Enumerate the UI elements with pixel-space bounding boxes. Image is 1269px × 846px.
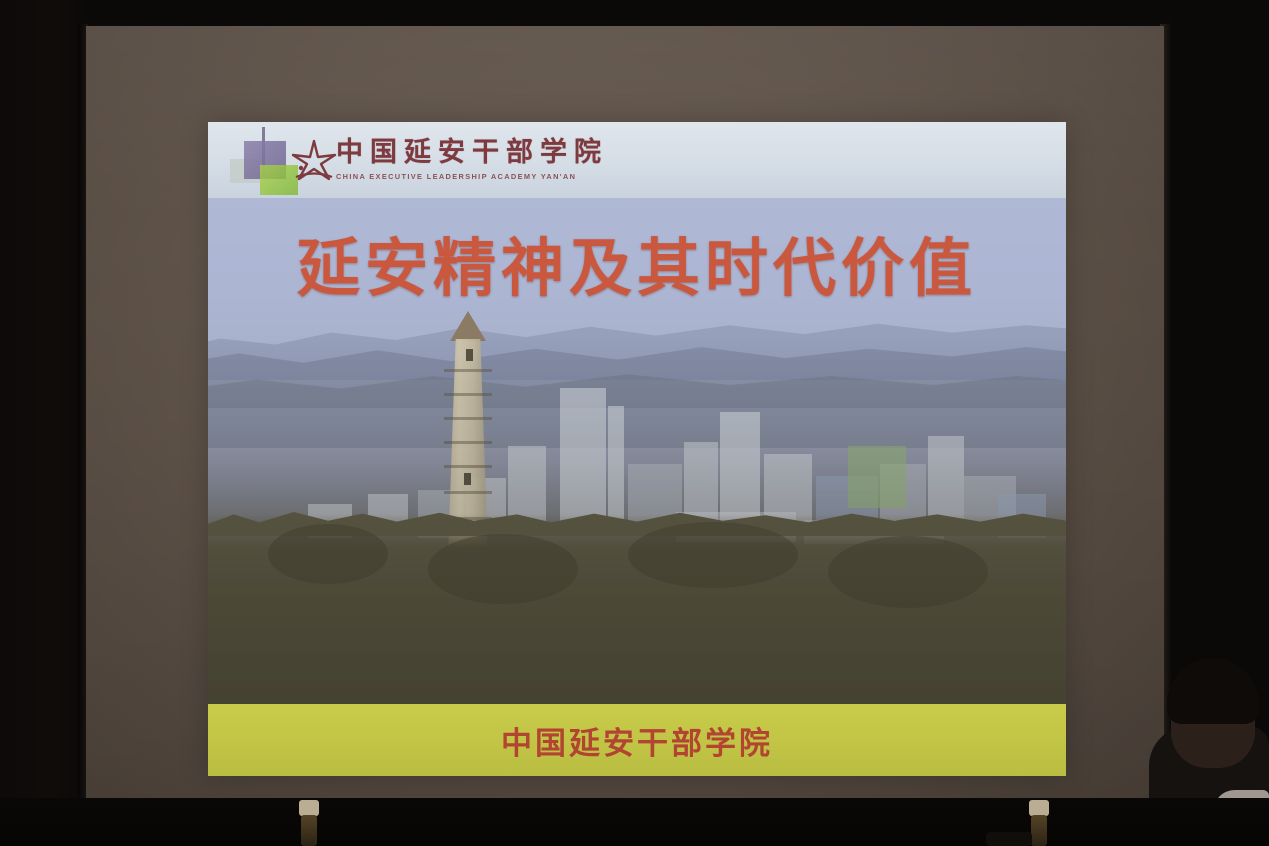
logo-star-pagoda-emblem-icon	[288, 137, 340, 187]
bottle-body	[301, 815, 317, 846]
academy-name-chinese: 中国延安干部学院	[336, 139, 608, 168]
water-bottle-left	[296, 800, 322, 846]
yanan-pagoda	[436, 311, 500, 611]
slide-footer-banner: 中国延安干部学院	[208, 704, 1066, 776]
bottle-cap-icon	[299, 800, 319, 816]
mountain-ridge-mid	[208, 330, 1066, 408]
bottle-body	[1031, 815, 1047, 846]
slide-header-band: 中国延安干部学院 CHINA EXECUTIVE LEADERSHIP ACAD…	[208, 122, 1066, 198]
presentation-slide: 中国延安干部学院 CHINA EXECUTIVE LEADERSHIP ACAD…	[208, 122, 1066, 776]
cityscape-buildings	[208, 376, 1066, 556]
table-object	[986, 832, 1032, 846]
bottle-cap-icon	[1029, 800, 1049, 816]
pagoda-roof-icon	[450, 311, 486, 341]
foreground-tree-canopy	[208, 514, 1066, 704]
academy-logo-text: 中国延安干部学院 CHINA EXECUTIVE LEADERSHIP ACAD…	[336, 139, 608, 181]
screenshot-stage: 中国延安干部学院 CHINA EXECUTIVE LEADERSHIP ACAD…	[0, 0, 1269, 846]
slide-title: 延安精神及其时代价值	[208, 218, 1066, 309]
slide-footer-text: 中国延安干部学院	[501, 718, 773, 763]
mountain-ridge-near	[208, 358, 1066, 448]
table-edge	[0, 798, 1269, 846]
person-hair	[1167, 658, 1259, 724]
mountain-ridge-far	[208, 306, 1066, 380]
pagoda-body	[446, 339, 490, 611]
academy-logo-mark	[230, 125, 318, 195]
academy-name-english: CHINA EXECUTIVE LEADERSHIP ACADEMY YAN'A…	[336, 172, 608, 181]
